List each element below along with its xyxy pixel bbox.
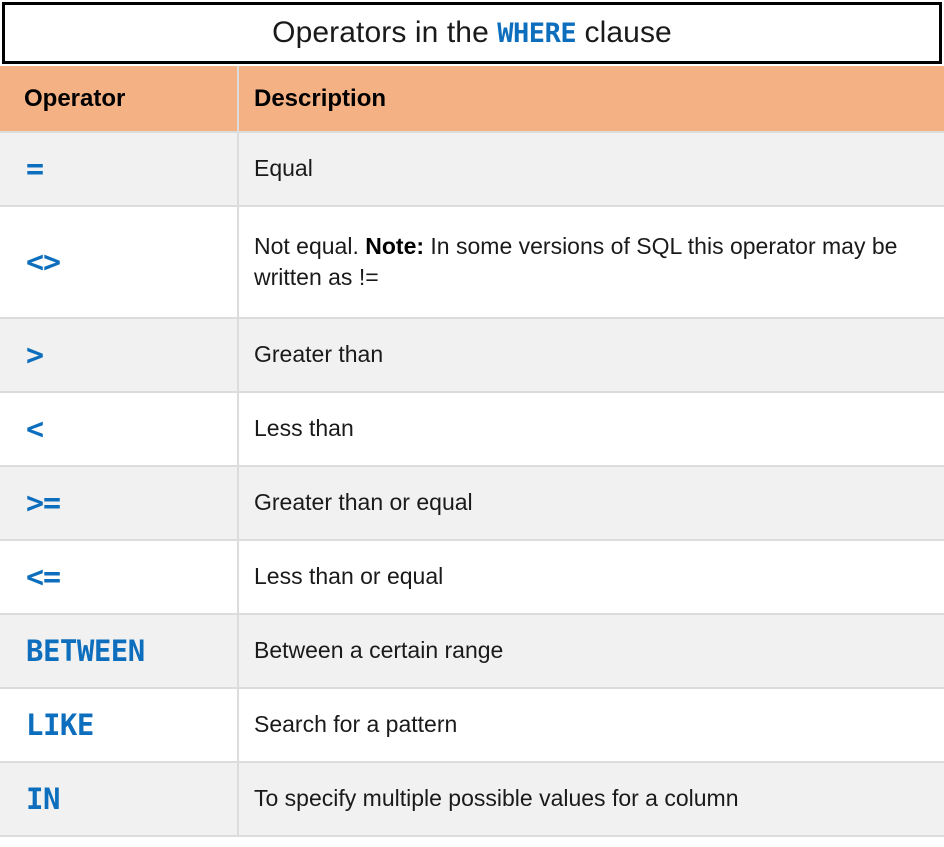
- description-text: Equal: [254, 155, 313, 181]
- description-text: Not equal.: [254, 233, 365, 259]
- column-header-operator: Operator: [0, 66, 238, 132]
- operator-symbol: IN: [0, 782, 60, 816]
- description-text: To specify multiple possible values for …: [254, 785, 739, 811]
- operator-description: Less than: [239, 413, 944, 444]
- operator-description: Between a certain range: [239, 635, 944, 666]
- cell-description: Less than: [238, 392, 944, 466]
- description-text: Greater than: [254, 341, 383, 367]
- operator-symbol: <: [0, 412, 43, 447]
- operators-table: Operator Description =Equal<>Not equal. …: [0, 66, 944, 837]
- cell-operator: BETWEEN: [0, 614, 238, 688]
- operator-symbol: <=: [0, 560, 60, 595]
- operator-description: Not equal. Note: In some versions of SQL…: [239, 231, 944, 293]
- operator-description: Greater than: [239, 339, 944, 370]
- table-row: <=Less than or equal: [0, 540, 944, 614]
- operators-reference-sheet: Operators in the WHERE clause Operator D…: [0, 0, 944, 847]
- cell-operator: >=: [0, 466, 238, 540]
- cell-operator: IN: [0, 762, 238, 836]
- table-header-row: Operator Description: [0, 66, 944, 132]
- table-row: INTo specify multiple possible values fo…: [0, 762, 944, 836]
- operator-symbol: LIKE: [0, 708, 94, 742]
- operator-description: Less than or equal: [239, 561, 944, 592]
- description-text: Less than or equal: [254, 563, 443, 589]
- title-keyword-where: WHERE: [497, 18, 576, 49]
- table-header: Operator Description: [0, 66, 944, 132]
- operator-description: Equal: [239, 153, 944, 184]
- table-row: LIKESearch for a pattern: [0, 688, 944, 762]
- operator-description: Greater than or equal: [239, 487, 944, 518]
- description-note-label: Note:: [365, 233, 424, 259]
- cell-operator: LIKE: [0, 688, 238, 762]
- operator-symbol: >: [0, 338, 43, 373]
- cell-description: To specify multiple possible values for …: [238, 762, 944, 836]
- cell-description: Equal: [238, 132, 944, 206]
- cell-description: Greater than: [238, 318, 944, 392]
- column-header-description: Description: [238, 66, 944, 132]
- page-title: Operators in the WHERE clause: [272, 18, 672, 48]
- cell-operator: =: [0, 132, 238, 206]
- operator-description: To specify multiple possible values for …: [239, 783, 944, 814]
- operator-symbol: <>: [0, 245, 60, 280]
- cell-operator: >: [0, 318, 238, 392]
- operator-symbol: >=: [0, 486, 60, 521]
- table-row: <>Not equal. Note: In some versions of S…: [0, 206, 944, 318]
- operator-symbol: BETWEEN: [0, 634, 145, 668]
- column-header-description-label: Description: [239, 85, 944, 113]
- cell-operator: <>: [0, 206, 238, 318]
- cell-description: Greater than or equal: [238, 466, 944, 540]
- cell-operator: <: [0, 392, 238, 466]
- title-banner: Operators in the WHERE clause: [2, 2, 942, 64]
- table-row: >=Greater than or equal: [0, 466, 944, 540]
- description-text: Less than: [254, 415, 354, 441]
- cell-description: Less than or equal: [238, 540, 944, 614]
- description-text: Greater than or equal: [254, 489, 473, 515]
- title-suffix: clause: [576, 16, 672, 49]
- table-row: >Greater than: [0, 318, 944, 392]
- cell-description: Not equal. Note: In some versions of SQL…: [238, 206, 944, 318]
- description-text: Search for a pattern: [254, 711, 457, 737]
- title-prefix: Operators in the: [272, 16, 497, 49]
- table-row: BETWEENBetween a certain range: [0, 614, 944, 688]
- description-text: Between a certain range: [254, 637, 503, 663]
- table-row: =Equal: [0, 132, 944, 206]
- table-row: <Less than: [0, 392, 944, 466]
- operator-description: Search for a pattern: [239, 709, 944, 740]
- table-body: =Equal<>Not equal. Note: In some version…: [0, 132, 944, 836]
- operator-symbol: =: [0, 152, 43, 187]
- cell-operator: <=: [0, 540, 238, 614]
- column-header-operator-label: Operator: [0, 85, 237, 113]
- cell-description: Search for a pattern: [238, 688, 944, 762]
- cell-description: Between a certain range: [238, 614, 944, 688]
